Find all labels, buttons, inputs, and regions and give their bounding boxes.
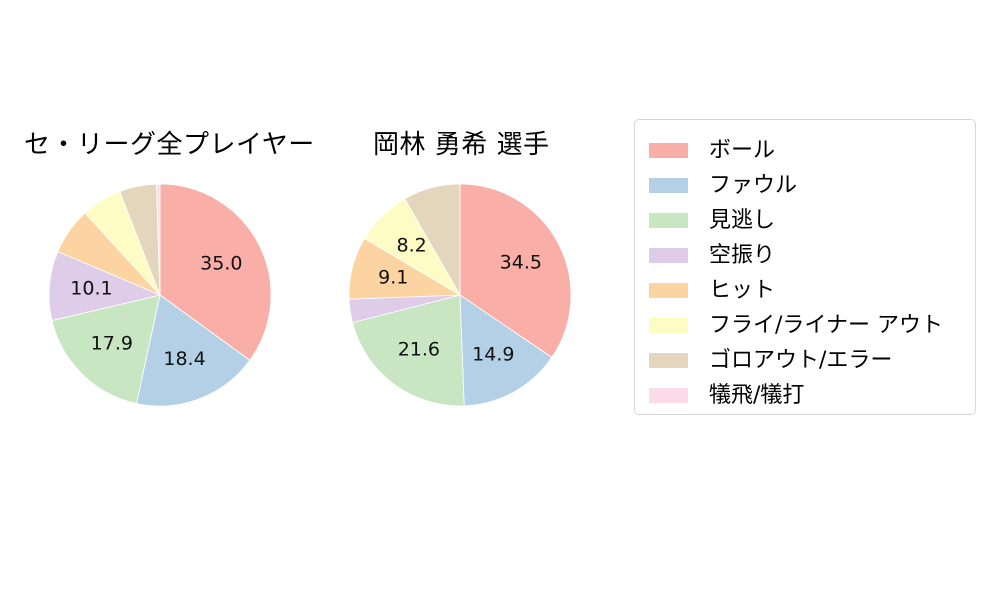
legend-color-swatch [649,283,688,298]
pie-slice-value-label: 18.4 [163,348,205,370]
player-pie-chart: 34.514.921.69.18.2 [349,184,571,406]
legend-item-label: フライ/ライナー アウト [709,315,943,337]
pie-slice-value-label: 17.9 [91,333,133,355]
pie-slice-value-label: 21.6 [398,339,440,361]
pie-slice-value-label: 14.9 [472,344,514,366]
legend-color-swatch [649,353,688,368]
pie-slice-value-label: 10.1 [70,278,112,300]
legend-item[interactable]: 空振り [635,238,975,273]
legend-item[interactable]: ファウル [635,168,975,203]
legend-color-swatch [649,318,688,333]
legend-item[interactable]: ゴロアウト/エラー [635,343,975,378]
player-pie-slices [349,184,571,406]
legend-item[interactable]: フライ/ライナー アウト [635,308,975,343]
pie-slice-value-label: 9.1 [378,267,408,289]
league-chart-title: セ・リーグ全プレイヤー [24,124,315,161]
pie-slice-value-label: 34.5 [500,251,542,273]
legend-item-label: 見逃し [709,210,775,232]
legend-color-swatch [649,388,688,403]
legend-item-label: ボール [709,140,775,162]
legend-color-swatch [649,143,688,158]
pie-slice-value-label: 8.2 [397,235,427,257]
legend-item[interactable]: 犠飛/犠打 [635,378,975,413]
player-pie-svg: 34.514.921.69.18.2 [349,184,571,406]
pie-slice-value-label: 35.0 [200,252,242,274]
chart-canvas: セ・リーグ全プレイヤー 35.018.417.910.1 岡林 勇希 選手 34… [0,0,1000,600]
legend-item-label: ファウル [709,175,797,197]
legend-item-label: ヒット [709,280,775,302]
legend-color-swatch [649,213,688,228]
legend-item-label: 空振り [709,245,775,267]
legend-item[interactable]: ボール [635,133,975,168]
chart-legend: ボールファウル見逃し空振りヒットフライ/ライナー アウトゴロアウト/エラー犠飛/… [634,119,976,415]
league-pie-chart: 35.018.417.910.1 [49,184,271,406]
legend-color-swatch [649,248,688,263]
league-pie-svg: 35.018.417.910.1 [49,184,271,406]
legend-color-swatch [649,178,688,193]
legend-item-label: 犠飛/犠打 [709,385,804,407]
legend-item[interactable]: ヒット [635,273,975,308]
legend-item-label: ゴロアウト/エラー [709,350,892,372]
player-chart-title: 岡林 勇希 選手 [373,124,550,161]
legend-item[interactable]: 見逃し [635,203,975,238]
